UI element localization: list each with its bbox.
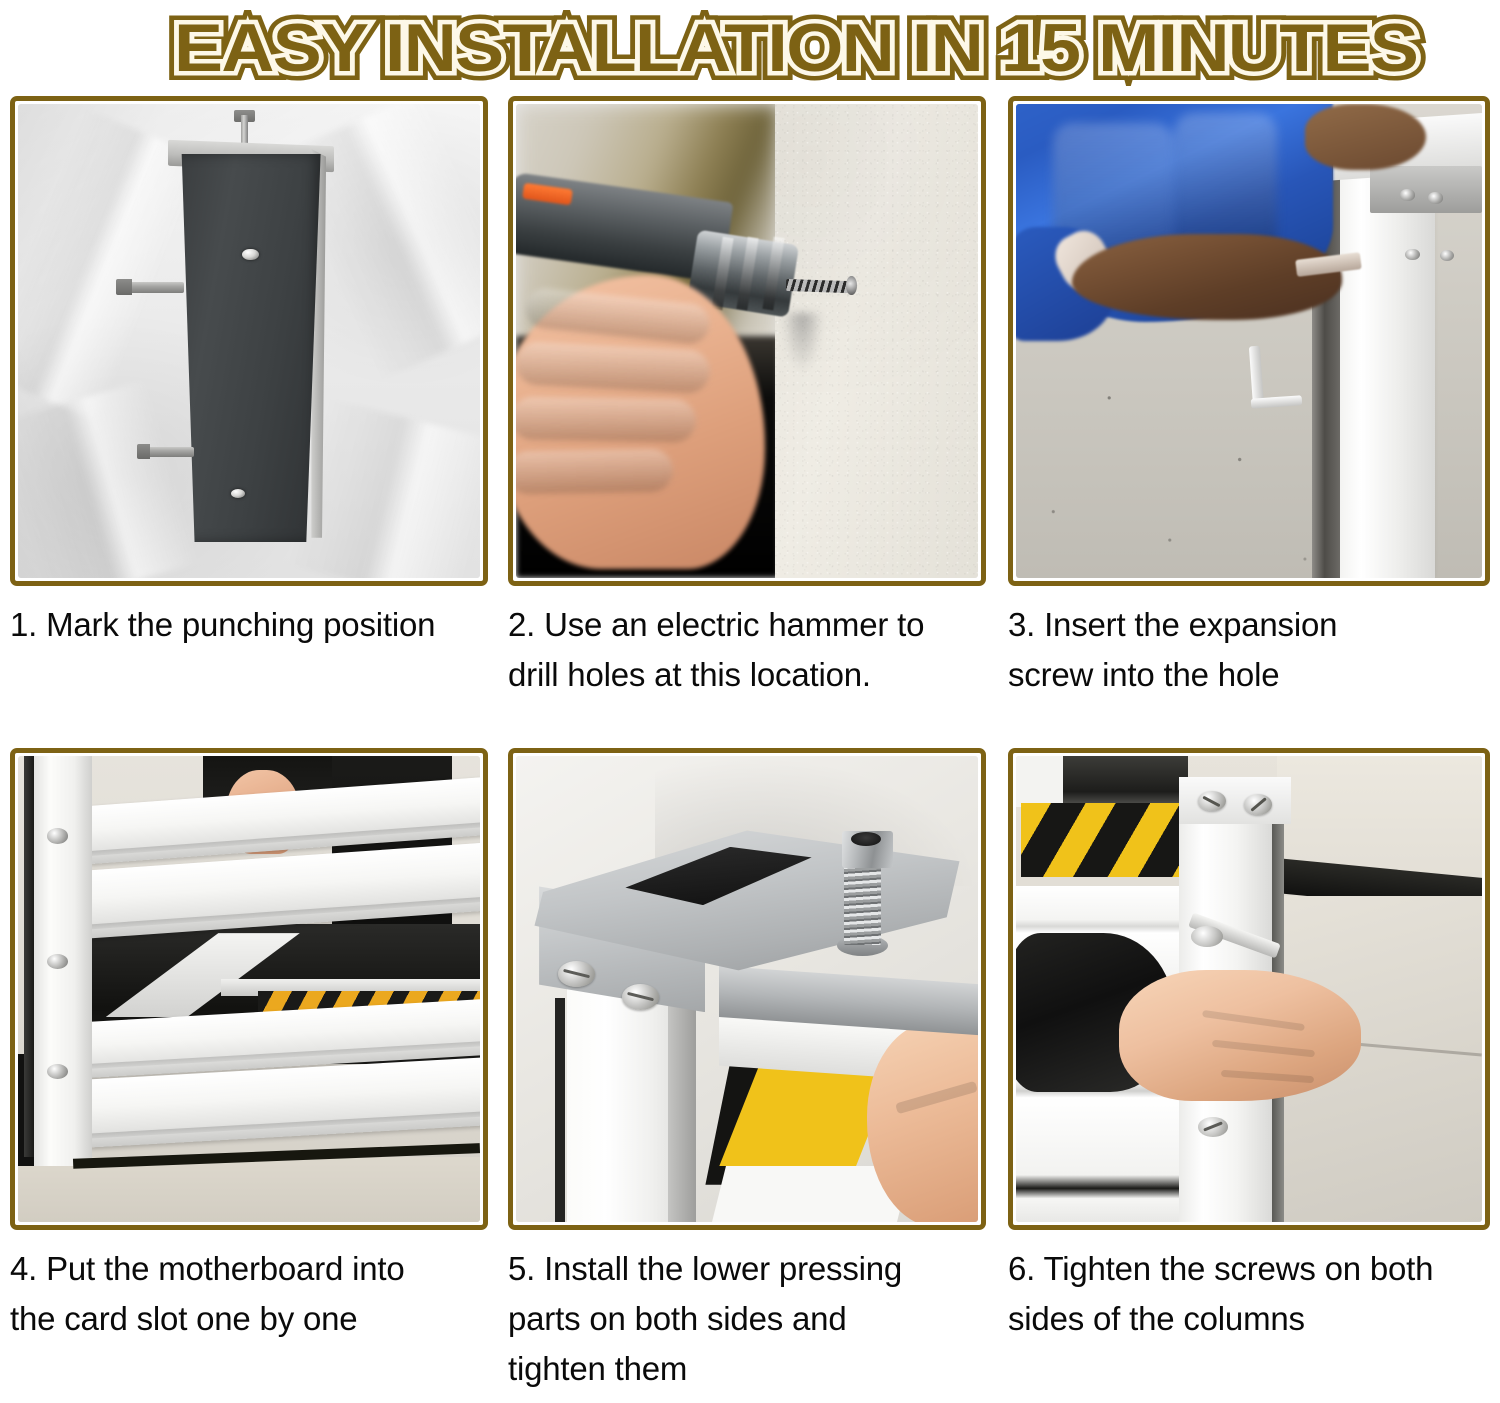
marking-hole [231,489,245,498]
step-caption-line: 2. Use an electric hammer to [508,600,986,650]
upper-white-band [1016,756,1063,807]
step-photo-4 [18,756,480,1222]
step-photo-frame-5 [508,748,986,1230]
step-caption-line: 3. Insert the expansion [1008,600,1490,650]
marking-hole [242,249,259,260]
post-bolt [47,1064,68,1079]
column-side-screw [1191,926,1224,947]
step-card-4: 4. Put the motherboard into the card slo… [0,748,500,1399]
steps-row-top: 1. Mark the punching position [0,96,1500,748]
column-screw [1428,192,1442,203]
step-caption-3: 3. Insert the expansion screw into the h… [1008,586,1490,748]
banner-title-stack: EASY INSTALLATION IN 15 MINUTES EASY INS… [174,5,1325,91]
drill-dust [782,313,824,375]
bracket-screw [622,984,659,1010]
post-bolt [47,828,68,843]
step-caption-4: 4. Put the motherboard into the card slo… [10,1230,488,1399]
hazard-stripe-tape [1021,803,1189,878]
banner-title-text: EASY INSTALLATION IN 15 MINUTES [174,5,1417,91]
step-photo-2 [516,104,978,578]
step-photo-frame-3 [1008,96,1490,586]
step-caption-line: screw into the hole [1008,650,1490,700]
column-top-plate [1179,777,1291,824]
installer-hand [1119,970,1361,1100]
bracket-screw [558,961,595,987]
column-bracket [1370,166,1482,213]
finger [516,449,673,495]
side-bolt-tip [137,444,150,459]
step-caption-6: 6. Tighten the screws on both sides of t… [1008,1230,1490,1399]
column-side-screw [1198,1117,1228,1137]
step-photo-frame-2 [508,96,986,586]
step-photo-5 [516,756,978,1222]
finger [516,396,697,442]
step-photo-frame-1 [10,96,488,586]
step-card-2: 2. Use an electric hammer to drill holes… [500,96,1000,748]
step-photo-1 [18,104,480,578]
column-top-screw [1244,794,1272,815]
step-photo-frame-6 [1008,748,1490,1230]
step-caption-line: sides of the columns [1008,1294,1490,1344]
step-photo-3 [1016,104,1482,578]
column-dark-edge [555,998,564,1222]
step-card-1: 1. Mark the punching position [0,96,500,748]
step-caption-line: the card slot one by one [10,1294,488,1344]
step-caption-1: 1. Mark the punching position [10,586,488,748]
column-top-screw [1198,791,1226,812]
step-caption-line: drill holes at this location. [508,650,986,700]
step-caption-5: 5. Install the lower pressing parts on b… [508,1230,986,1399]
step-caption-line: 6. Tighten the screws on both [1008,1244,1490,1294]
banner-title: EASY INSTALLATION IN 15 MINUTES EASY INS… [0,2,1500,94]
side-bolt-tip [116,279,132,295]
step-photo-frame-4 [10,748,488,1230]
step-caption-line: tighten them [508,1344,986,1394]
step-card-5: 5. Install the lower pressing parts on b… [500,748,1000,1399]
mounting-post [177,154,320,543]
step-caption-line: 4. Put the motherboard into [10,1244,488,1294]
allen-key-short-arm [1251,395,1302,409]
worker-arm [1072,234,1342,319]
step-caption-line: 1. Mark the punching position [10,600,488,650]
column-screw [1400,189,1414,200]
column-lip [668,989,696,1222]
step-photo-6 [1016,756,1482,1222]
column-screw [1405,249,1419,260]
steps-grid: 1. Mark the punching position [0,96,1500,1399]
worker-upper-hand [1305,104,1426,170]
step-card-3: 3. Insert the expansion screw into the h… [1000,96,1500,748]
step-caption-line: parts on both sides and [508,1294,986,1344]
step-caption-2: 2. Use an electric hammer to drill holes… [508,586,986,748]
step-card-6: 6. Tighten the screws on both sides of t… [1000,748,1500,1399]
allen-key [1240,346,1305,408]
bolt-thread [844,866,881,945]
step-caption-line: 5. Install the lower pressing [508,1244,986,1294]
steps-row-bottom: 4. Put the motherboard into the card slo… [0,748,1500,1399]
